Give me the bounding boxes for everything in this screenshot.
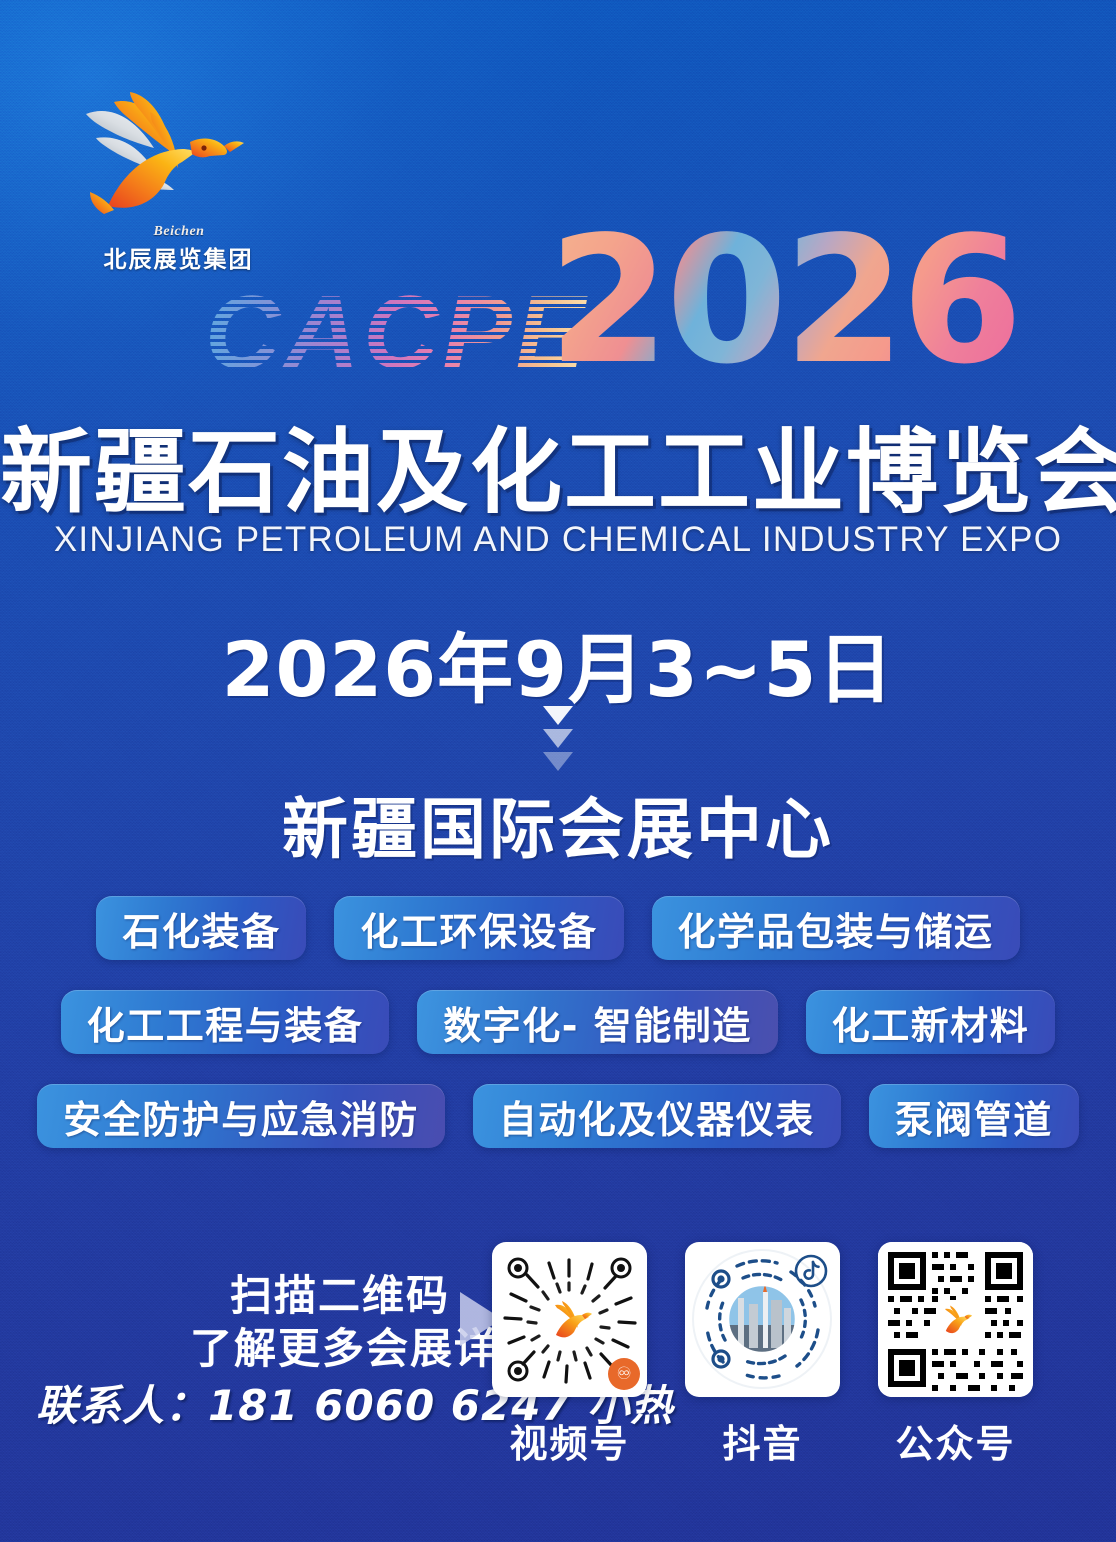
category-tag[interactable]: 自动化及仪器仪表 <box>473 1084 841 1148</box>
qr-code-item: 抖音 <box>685 1242 840 1468</box>
page-subtitle-english: XINJIANG PETROLEUM AND CHEMICAL INDUSTRY… <box>0 520 1116 560</box>
scan-prompt-line2: 了解更多会展详情 <box>190 1323 450 1376</box>
qr-code-official-account[interactable] <box>878 1242 1033 1397</box>
phoenix-bird-logo-icon <box>78 86 268 236</box>
qr-code-label: 抖音 <box>685 1413 840 1468</box>
qr-code-label: 公众号 <box>878 1413 1033 1468</box>
category-tag[interactable]: 泵阀管道 <box>869 1084 1079 1148</box>
douyin-note-badge-icon <box>794 1254 828 1288</box>
page-title: 新疆石油及化工工业博览会 <box>0 398 1116 531</box>
qr-code-label: 视频号 <box>492 1413 647 1468</box>
poster-canvas: Beichen 北辰展览集团 CACPE 2026 新疆石油及化工工业博览会 X… <box>0 0 1116 1542</box>
qr-code-row: ♾ 视频号 <box>492 1242 1032 1468</box>
wechat-channels-badge-icon: ♾ <box>608 1358 640 1390</box>
brand-year: 2026 <box>548 214 1019 389</box>
qr-center-phoenix-icon <box>936 1300 976 1340</box>
category-tag[interactable]: 石化装备 <box>96 896 306 960</box>
category-tag[interactable]: 安全防护与应急消防 <box>37 1084 445 1148</box>
category-tag[interactable]: 化工工程与装备 <box>61 990 390 1054</box>
category-tag[interactable]: 化工环保设备 <box>334 896 623 960</box>
scan-prompt: 扫描二维码 了解更多会展详情 <box>190 1270 450 1375</box>
event-date: 2026年9月3~5日 <box>0 608 1116 718</box>
event-venue: 新疆国际会展中心 <box>0 776 1116 872</box>
qr-code-douyin[interactable] <box>685 1242 840 1397</box>
qr-code-item: ♾ 视频号 <box>492 1242 647 1468</box>
category-tag[interactable]: 化工新材料 <box>806 990 1056 1054</box>
scan-prompt-line1: 扫描二维码 <box>190 1270 450 1323</box>
footer-section: 扫描二维码 了解更多会展详情 联系人：181 6060 6247 小热 <box>0 1230 1116 1510</box>
category-tag[interactable]: 数字化- 智能制造 <box>417 990 778 1054</box>
brand-wordmark: CACPE 2026 <box>0 216 1116 386</box>
category-tag-row: 安全防护与应急消防 自动化及仪器仪表 泵阀管道 <box>0 1084 1116 1148</box>
brand-acronym: CACPE <box>205 286 589 382</box>
qr-code-item: 公众号 <box>878 1242 1033 1468</box>
category-tag-row: 石化装备 化工环保设备 化学品包装与储运 <box>0 896 1116 960</box>
down-arrows-icon <box>0 706 1116 775</box>
category-tag-list: 石化装备 化工环保设备 化学品包装与储运 化工工程与装备 数字化- 智能制造 化… <box>0 896 1116 1178</box>
qr-center-phoenix-icon <box>547 1297 593 1343</box>
qr-code-video-channel[interactable]: ♾ <box>492 1242 647 1397</box>
category-tag-row: 化工工程与装备 数字化- 智能制造 化工新材料 <box>0 990 1116 1054</box>
category-tag[interactable]: 化学品包装与储运 <box>652 896 1020 960</box>
